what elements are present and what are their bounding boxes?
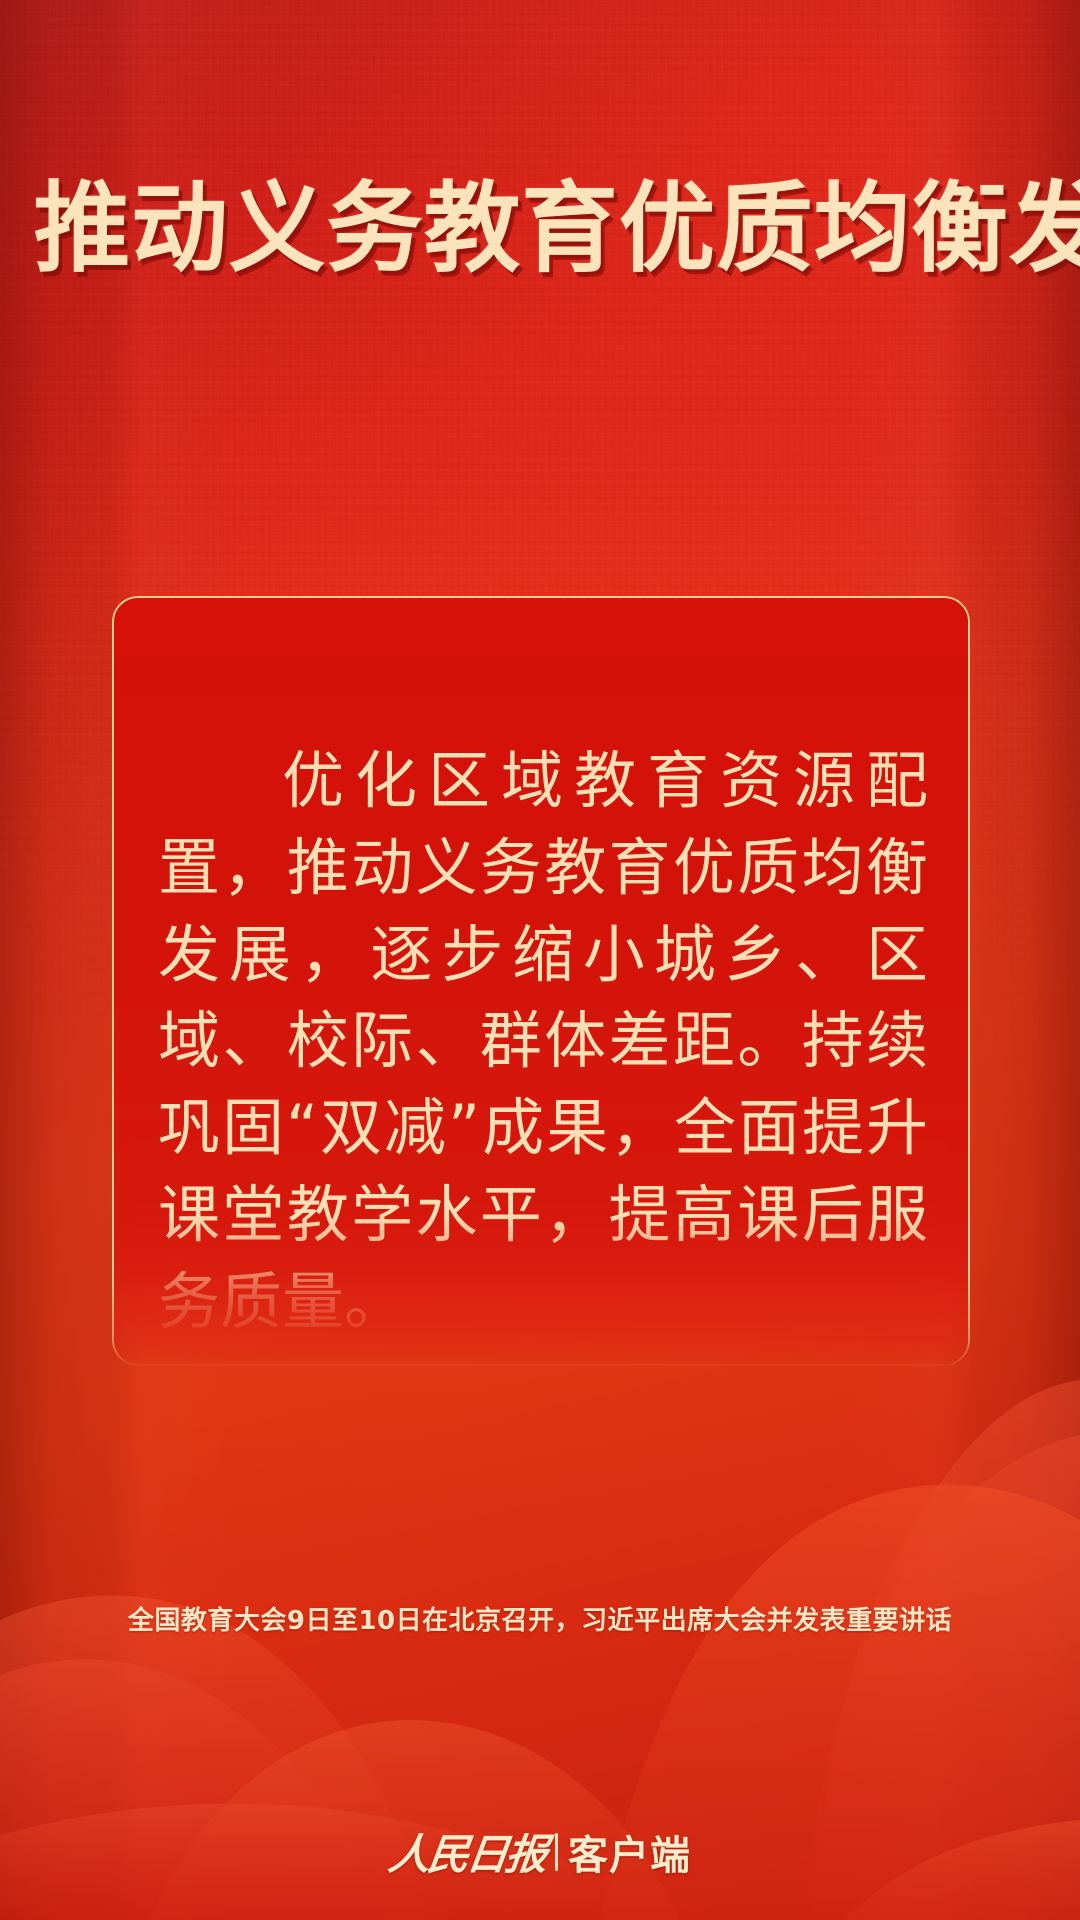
quote-card: 优化区域教育资源配置，推动义务教育优质均衡发展，逐步缩小城乡、区域、校际、群体差… <box>112 596 970 1366</box>
peoples-daily-masthead: 人民日报 <box>385 1821 549 1882</box>
page-title: 推动义务教育优质均衡发展 <box>34 178 1047 282</box>
poster-root: 推动义务教育优质均衡发展 优化区域教育资源配置，推动义务教育优质均衡发展，逐步缩… <box>0 0 1080 1920</box>
quote-text: 优化区域教育资源配置，推动义务教育优质均衡发展，逐步缩小城乡、区域、校际、群体差… <box>158 738 928 1346</box>
publisher-logo: 人民日报 客户端 <box>0 1821 1080 1882</box>
poster-title-container: 推动义务教育优质均衡发展 <box>0 178 1080 282</box>
logo-divider-icon <box>555 1833 558 1871</box>
app-client-label: 客户端 <box>568 1823 691 1881</box>
caption-text: 全国教育大会9日至10日在北京召开，习近平出席大会并发表重要讲话 <box>0 1600 1080 1637</box>
